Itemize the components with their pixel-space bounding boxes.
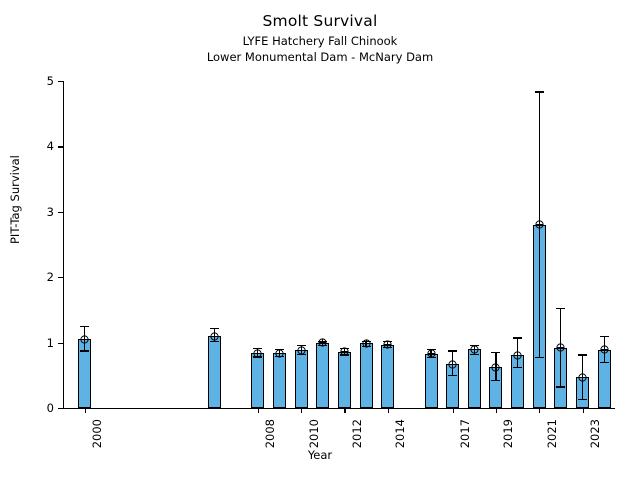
- chart-subtitle-1: LYFE Hatchery Fall Chinook: [0, 34, 640, 48]
- y-axis-tick-label: 5: [47, 74, 54, 88]
- plot-area: 0123452000200820102012201420172019202120…: [63, 81, 615, 408]
- x-axis-label: Year: [0, 448, 640, 462]
- x-axis-tick-label: 2021: [545, 419, 559, 448]
- data-point-marker[interactable]: [383, 340, 392, 349]
- data-point-marker[interactable]: [297, 346, 306, 355]
- data-point-marker[interactable]: [470, 345, 479, 354]
- y-axis-tick: [58, 277, 63, 278]
- y-axis-tick-label: 2: [47, 270, 54, 284]
- error-bar-cap: [513, 337, 522, 338]
- y-axis-tick-label: 1: [47, 336, 54, 350]
- error-bar-cap: [470, 354, 479, 355]
- chart-title: Smolt Survival: [0, 12, 640, 30]
- data-point-marker[interactable]: [275, 349, 284, 358]
- bar[interactable]: [316, 343, 329, 408]
- y-axis-tick-label: 4: [47, 139, 54, 153]
- x-axis-tick: [539, 408, 540, 413]
- x-axis-tick: [85, 408, 86, 413]
- x-axis-tick: [496, 408, 497, 413]
- error-bar-cap: [535, 91, 544, 92]
- data-point-marker[interactable]: [600, 345, 609, 354]
- error-bar-cap: [491, 352, 500, 353]
- error-bar-cap: [600, 336, 609, 337]
- bar[interactable]: [273, 353, 286, 408]
- data-point-marker[interactable]: [253, 349, 262, 358]
- x-axis-tick: [453, 408, 454, 413]
- y-axis-label: PIT-Tag Survival: [8, 155, 22, 244]
- title-block: Smolt Survival LYFE Hatchery Fall Chinoo…: [0, 0, 640, 64]
- x-axis-tick-label: 2023: [588, 419, 602, 448]
- y-axis-tick-label: 0: [47, 401, 54, 415]
- bar[interactable]: [381, 345, 394, 408]
- y-axis-tick: [58, 212, 63, 213]
- error-bar-cap: [578, 354, 587, 355]
- data-point-marker[interactable]: [448, 360, 457, 369]
- error-bar-cap: [210, 341, 219, 342]
- x-axis-tick: [583, 408, 584, 413]
- data-point-marker[interactable]: [427, 349, 436, 358]
- data-point-marker[interactable]: [491, 363, 500, 372]
- x-axis-tick-label: 2000: [90, 419, 104, 448]
- error-bar-cap: [210, 328, 219, 329]
- error-bar-cap: [513, 367, 522, 368]
- bar[interactable]: [295, 350, 308, 408]
- bar[interactable]: [338, 352, 351, 408]
- x-axis-tick-label: 2012: [350, 419, 364, 448]
- y-axis-tick: [58, 343, 63, 344]
- error-bar-cap: [448, 375, 457, 376]
- bar[interactable]: [360, 343, 373, 408]
- y-axis-tick: [58, 81, 63, 82]
- x-axis-tick-label: 2010: [307, 419, 321, 448]
- data-point-marker[interactable]: [578, 373, 587, 382]
- figure-canvas: Smolt Survival LYFE Hatchery Fall Chinoo…: [0, 0, 640, 480]
- data-point-marker[interactable]: [80, 335, 89, 344]
- chart-subtitle-2: Lower Monumental Dam - McNary Dam: [0, 50, 640, 64]
- error-bar-cap: [556, 308, 565, 309]
- y-axis-tick-label: 3: [47, 205, 54, 219]
- x-axis-tick: [344, 408, 345, 413]
- data-point-marker[interactable]: [340, 347, 349, 356]
- x-axis-tick-label: 2014: [393, 419, 407, 448]
- data-point-marker[interactable]: [318, 338, 327, 347]
- x-axis-tick: [301, 408, 302, 413]
- data-point-marker[interactable]: [210, 332, 219, 341]
- error-bar-cap: [578, 399, 587, 400]
- error-bar-cap: [448, 350, 457, 351]
- x-axis-tick-label: 2008: [263, 419, 277, 448]
- data-point-marker[interactable]: [362, 339, 371, 348]
- error-bar-cap: [80, 350, 89, 351]
- x-axis-tick-label: 2019: [501, 419, 515, 448]
- x-axis-tick: [258, 408, 259, 413]
- error-bar-cap: [535, 357, 544, 358]
- bar[interactable]: [208, 336, 221, 408]
- x-axis-spine: [63, 408, 615, 409]
- y-axis-spine: [63, 81, 64, 408]
- data-point-marker[interactable]: [556, 343, 565, 352]
- y-axis-tick: [58, 146, 63, 147]
- error-bar-cap: [80, 326, 89, 327]
- data-point-marker[interactable]: [513, 351, 522, 360]
- x-axis-tick: [388, 408, 389, 413]
- bar[interactable]: [251, 353, 264, 408]
- bar[interactable]: [468, 349, 481, 408]
- bar[interactable]: [425, 354, 438, 408]
- data-point-marker[interactable]: [535, 220, 544, 229]
- error-bar-cap: [491, 380, 500, 381]
- y-axis-tick: [58, 408, 63, 409]
- x-axis-tick-label: 2017: [458, 419, 472, 448]
- error-bar-cap: [556, 386, 565, 387]
- error-bar-cap: [600, 362, 609, 363]
